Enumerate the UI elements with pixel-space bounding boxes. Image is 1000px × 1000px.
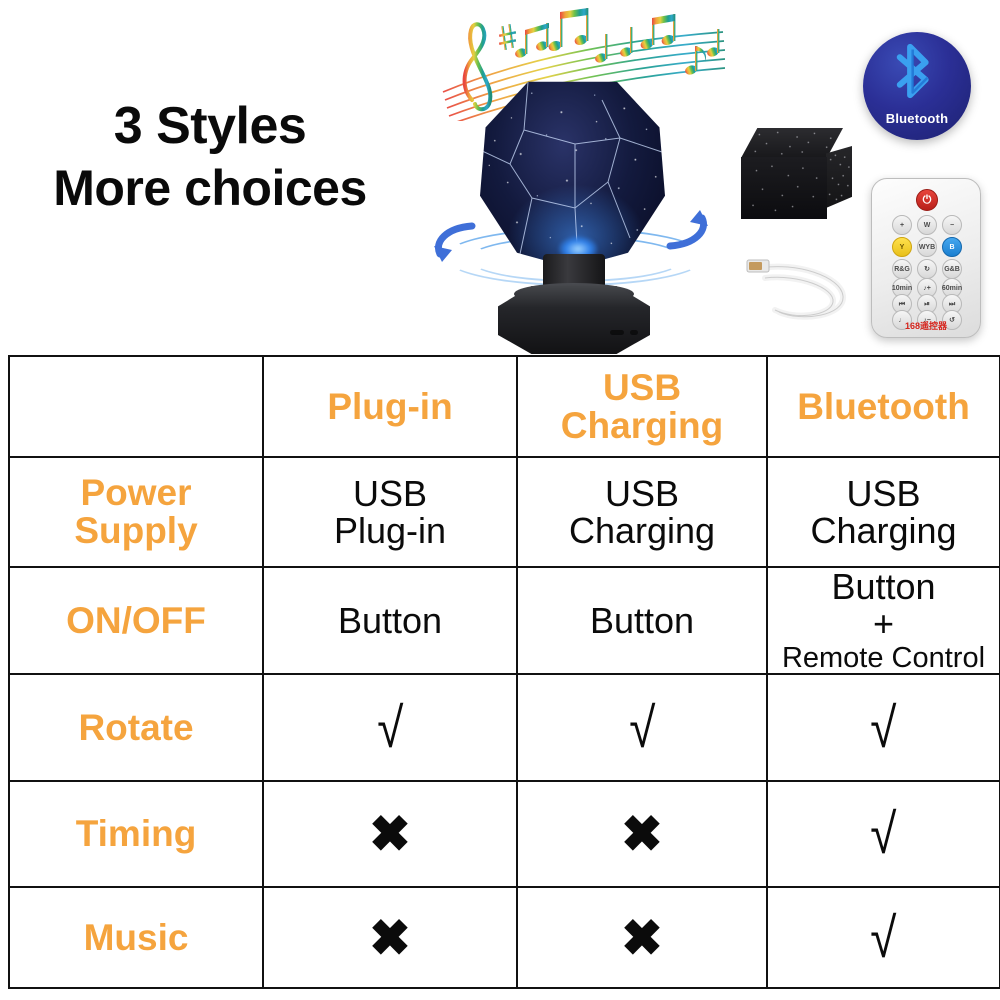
cell-power-usb-line1: USB [518, 475, 766, 512]
rotate-arrow-left-icon [432, 220, 480, 268]
header-plugin-label: Plug-in [264, 388, 516, 426]
cell-onoff-bluetooth: Button + Remote Control [767, 567, 1000, 674]
header-usb-line2: Charging [518, 407, 766, 445]
row-label-timing: Timing [9, 781, 263, 887]
constellation-gift-box [735, 128, 855, 228]
cell-power-plugin-line1: USB [264, 475, 516, 512]
lamp-base [498, 286, 650, 354]
cell-rotate-bluetooth: √ [767, 674, 1000, 781]
row-label-music: Music [9, 887, 263, 988]
cross-icon: ✖ [621, 809, 663, 859]
cell-power-usb: USB Charging [517, 457, 767, 567]
row-label-power-line1: Power [10, 474, 262, 512]
cell-music-bluetooth: √ [767, 887, 1000, 988]
check-icon: √ [629, 700, 655, 756]
row-label-onoff-text: ON/OFF [10, 602, 262, 640]
cell-rotate-usb: √ [517, 674, 767, 781]
remote-button-0[interactable]: + [892, 215, 912, 235]
cell-power-plugin-line2: Plug-in [264, 512, 516, 549]
check-icon: √ [377, 700, 403, 756]
row-label-rotate-text: Rotate [10, 709, 262, 747]
cell-onoff-bt-line2: + [768, 605, 999, 642]
cell-onoff-usb: Button [517, 567, 767, 674]
header-bluetooth-label: Bluetooth [768, 388, 999, 426]
headline-line-1: 3 Styles [114, 97, 307, 155]
cell-onoff-bt-line3: Remote Control [768, 643, 999, 673]
remote-button-1[interactable]: W [917, 215, 937, 235]
table-row-onoff: ON/OFF Button Button Button + Remote Con… [9, 567, 1000, 674]
cell-onoff-usb-text: Button [518, 602, 766, 639]
remote-button-5[interactable]: B [942, 237, 962, 257]
cell-power-bt-line1: USB [768, 475, 999, 512]
check-icon: √ [870, 700, 896, 756]
cross-icon: ✖ [369, 809, 411, 859]
row-label-timing-text: Timing [10, 815, 262, 853]
cell-timing-plugin: ✖ [263, 781, 517, 887]
check-icon: √ [870, 910, 896, 966]
table-row-music: Music ✖ ✖ √ [9, 887, 1000, 988]
remote-button-6[interactable]: R&G [892, 259, 912, 279]
remote-button-3[interactable]: Y [892, 237, 912, 257]
remote-power-button[interactable]: ⏻ [916, 189, 938, 211]
usb-cable [745, 250, 865, 330]
table-row-timing: Timing ✖ ✖ √ [9, 781, 1000, 887]
header-usb-line1: USB [518, 369, 766, 407]
remote-button-8[interactable]: G&B [942, 259, 962, 279]
bluetooth-badge-label: Bluetooth [863, 111, 971, 126]
star-projector-lamp [440, 78, 705, 355]
row-label-power-line2: Supply [10, 512, 262, 550]
cell-onoff-plugin: Button [263, 567, 517, 674]
cell-music-plugin: ✖ [263, 887, 517, 988]
box-front [741, 157, 827, 219]
remote-button-4[interactable]: WYB [917, 237, 937, 257]
cell-power-bluetooth: USB Charging [767, 457, 1000, 567]
header-cell-usb-charging: USB Charging [517, 356, 767, 457]
header-cell-plugin: Plug-in [263, 356, 517, 457]
cross-icon: ✖ [369, 913, 411, 963]
headline-line-2: More choices [0, 158, 420, 219]
remote-button-7[interactable]: ↻ [917, 259, 937, 279]
usb-port [610, 330, 624, 335]
comparison-table: Plug-in USB Charging Bluetooth Power Sup… [8, 355, 1000, 989]
cell-power-usb-line2: Charging [518, 512, 766, 549]
remote-button-2[interactable]: − [942, 215, 962, 235]
row-label-music-text: Music [10, 919, 262, 957]
bluetooth-badge: Bluetooth [863, 32, 971, 140]
table-row-rotate: Rotate √ √ √ [9, 674, 1000, 781]
remote-control: ⏻ + W − Y WYB B R&G ↻ G&B 10min ♪+ 60min… [871, 178, 981, 338]
cell-onoff-plugin-text: Button [264, 602, 516, 639]
cell-power-plugin: USB Plug-in [263, 457, 517, 567]
cell-timing-bluetooth: √ [767, 781, 1000, 887]
remote-model-label: 168遥控器 [872, 319, 980, 332]
power-port [630, 330, 638, 335]
table-row-power-supply: Power Supply USB Plug-in USB Charging US… [9, 457, 1000, 567]
row-label-rotate: Rotate [9, 674, 263, 781]
cell-music-usb: ✖ [517, 887, 767, 988]
page-title: 3 Styles More choices [0, 95, 420, 219]
check-icon: √ [870, 806, 896, 862]
cross-icon: ✖ [621, 913, 663, 963]
header-cell-bluetooth: Bluetooth [767, 356, 1000, 457]
row-label-power-supply: Power Supply [9, 457, 263, 567]
table-header-row: Plug-in USB Charging Bluetooth [9, 356, 1000, 457]
rotate-arrow-right-icon [662, 206, 710, 254]
row-label-onoff: ON/OFF [9, 567, 263, 674]
cell-power-bt-line2: Charging [768, 512, 999, 549]
cell-onoff-bt-line1: Button [768, 568, 999, 605]
hero-banner: 3 Styles More choices [0, 0, 1000, 355]
cell-timing-usb: ✖ [517, 781, 767, 887]
box-side [826, 146, 852, 208]
bluetooth-icon [863, 28, 971, 114]
cell-rotate-plugin: √ [263, 674, 517, 781]
header-cell-empty [9, 356, 263, 457]
